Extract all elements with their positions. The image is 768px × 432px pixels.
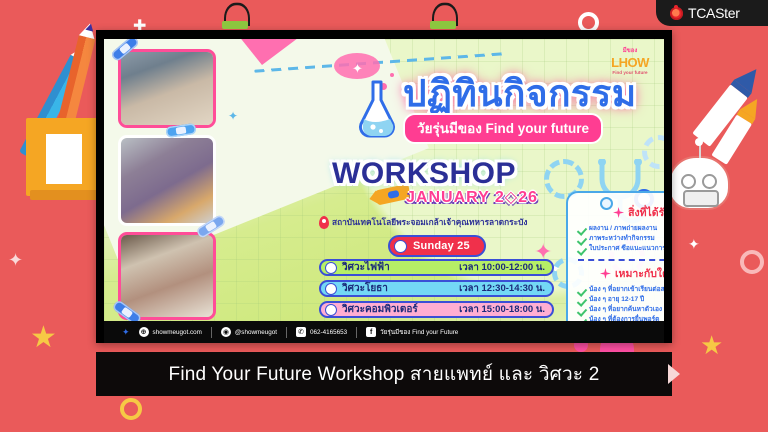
tcaster-logo-suffix: ter — [724, 5, 739, 21]
schedule-row-name: วิศวะโยธา — [342, 281, 388, 296]
ring-decor-bottom — [120, 398, 142, 420]
contact-facebook-text: วัยรุ่นมีของ Find your Future — [380, 327, 458, 337]
photo-workshop-2 — [118, 135, 216, 226]
info-card: สิ่งที่ได้รับ ผลงาน / ภาพถ่ายผลงาน ภาพระ… — [566, 191, 664, 339]
sparkle-icon — [600, 268, 611, 279]
info-card-bullet: ภาพระหว่างทำกิจกรรม — [578, 235, 664, 244]
day-badge-knob-icon — [394, 240, 407, 253]
info-card-bullet: ผลงาน / ภาพถ่ายผลงาน — [578, 225, 664, 234]
venue-line: สถาบันเทคโนโลยีพระจอมเกล้าเจ้าคุณทหารลาด… — [319, 215, 527, 229]
ring-decor-right — [740, 250, 764, 274]
poster-star-decor-4: ✦ — [228, 109, 238, 123]
check-icon — [578, 236, 586, 244]
schedule-row-knob-icon — [325, 283, 337, 295]
contact-sparkle-icon: ✦ — [122, 327, 130, 338]
info-card-bullet-text: น้อง ๆ ที่อยากค้นหาตัวเอง — [589, 306, 662, 315]
tcaster-mark-icon — [670, 7, 683, 20]
check-icon — [578, 226, 586, 234]
poster-subtitle: วัยรุ่นมีของ Find your future — [403, 113, 603, 144]
mi-khong-logo-line3: Find your future — [604, 70, 656, 75]
contact-phone[interactable]: ✆ 062-4165653 — [287, 327, 356, 337]
poster-title: ปฏิทินกิจกรรม — [403, 75, 637, 112]
sparkle-icon — [613, 207, 624, 218]
tcaster-logo: TCASter — [656, 0, 768, 26]
info-card-bullet-text: ใบประกาศ ซีอแนะแนวการทำ Portfolio — [589, 245, 664, 254]
card-punch-hole-left-icon — [600, 197, 613, 210]
poster-frame: ✦ ✦ ✦ ✦ ✦ ✦ ปฏิทินกิจกรรม วัยรุ่นมีของ F… — [96, 30, 672, 343]
info-card-bullet-text: น้อง ๆ ที่อยากเข้าเรียนต่อสายวิศวะ — [589, 286, 664, 295]
facebook-icon: f — [366, 327, 376, 337]
schedule-row-time: เวลา 10:00-12:00 น. — [459, 260, 545, 275]
check-icon — [578, 287, 586, 295]
poster-headline: ปฏิทินกิจกรรม วัยรุ่นมีของ Find your fut… — [403, 75, 637, 144]
schedule-row-name: วิศวะคอมพิวเตอร์ — [342, 302, 418, 317]
contact-phone-text: 062-4165653 — [310, 329, 347, 336]
check-icon — [578, 246, 586, 254]
check-icon — [578, 307, 586, 315]
robot-mascot-decor — [668, 156, 730, 210]
schedule-row-knob-icon — [325, 304, 337, 316]
binder-clip-right-icon — [430, 8, 456, 30]
mi-khong-logo: มีของ LHOW Find your future — [604, 45, 656, 75]
poster-star-decor-1: ✦ — [352, 61, 363, 77]
info-card-bullet-text: น้อง ๆ อายุ 12-17 ปี — [589, 296, 644, 305]
workshop-label: WORKSHOP — [332, 157, 516, 191]
tcaster-logo-text: TCAS — [688, 5, 724, 21]
schedule-row-knob-icon — [325, 262, 337, 274]
star-decor-right: ★ — [700, 330, 723, 361]
photo-workshop-3 — [118, 232, 216, 320]
poster-dot-decor-2 — [390, 73, 394, 77]
schedule-row: วิศวะไฟฟ้า เวลา 10:00-12:00 น. — [319, 259, 554, 276]
day-badge: Sunday 25 — [388, 235, 486, 257]
day-badge-text: Sunday 25 — [413, 240, 470, 252]
info-card-bullet: น้อง ๆ ที่อยากค้นหาตัวเอง — [578, 306, 664, 315]
info-card-bullet-text: ภาพระหว่างทำกิจกรรม — [589, 235, 655, 244]
contact-line-text: @showmeugot — [235, 329, 277, 336]
check-icon — [578, 297, 586, 305]
info-card-bullet: ใบประกาศ ซีอแนะแนวการทำ Portfolio — [578, 245, 664, 254]
info-card-section2-title: เหมาะกับใคร ? — [615, 265, 664, 282]
globe-icon: ⊕ — [139, 327, 149, 337]
photo-workshop-1 — [118, 49, 216, 128]
caption-next-arrow-icon[interactable] — [668, 364, 680, 384]
schedule-row-name: วิศวะไฟฟ้า — [342, 260, 390, 275]
schedule-row-time: เวลา 12:30-14:30 น. — [459, 281, 545, 296]
info-card-section1-title: สิ่งที่ได้รับ — [628, 204, 664, 221]
binder-clip-left-icon — [222, 8, 248, 30]
contact-website[interactable]: ⊕ showmeugot.com — [130, 327, 211, 337]
line-icon: ◉ — [221, 327, 231, 337]
star-decor-left: ★ — [30, 320, 57, 355]
schedule-row-time: เวลา 15:00-18:00 น. — [459, 302, 545, 317]
phone-icon: ✆ — [296, 327, 306, 337]
venue-text: สถาบันเทคโนโลยีพระจอมเกล้าเจ้าคุณทหารลาด… — [332, 215, 527, 229]
info-card-section2-header: เหมาะกับใคร ? — [576, 265, 664, 282]
mi-khong-logo-line2: LHOW — [604, 55, 656, 70]
caption-text: Find Your Future Workshop สายแพทย์ และ ว… — [169, 359, 600, 389]
info-card-section1-header: สิ่งที่ได้รับ — [576, 204, 664, 221]
location-pin-icon — [319, 216, 329, 229]
book-decor — [26, 118, 100, 196]
schedule-row: วิศวะคอมพิวเตอร์ เวลา 15:00-18:00 น. — [319, 301, 554, 318]
book-shadow-decor — [30, 190, 100, 200]
flask-icon — [354, 79, 400, 141]
schedule-row: วิศวะโยธา เวลา 12:30-14:30 น. — [319, 280, 554, 297]
caption-bar: Find Your Future Workshop สายแพทย์ และ ว… — [96, 352, 672, 396]
star-decor-left2: ✦ — [8, 250, 23, 271]
contact-line[interactable]: ◉ @showmeugot — [212, 327, 286, 337]
poster-artwork: ✦ ✦ ✦ ✦ ✦ ✦ ปฏิทินกิจกรรม วัยรุ่นมีของ F… — [104, 39, 664, 343]
contact-facebook[interactable]: f วัยรุ่นมีของ Find your Future — [357, 327, 467, 337]
info-card-bullet: น้อง ๆ ที่อยากเข้าเรียนต่อสายวิศวะ — [578, 286, 664, 295]
contact-website-text: showmeugot.com — [153, 329, 202, 336]
book-label-decor — [46, 134, 82, 184]
info-card-bullet: น้อง ๆ อายุ 12-17 ปี — [578, 296, 664, 305]
date-label: JANUARY 2◇26 — [406, 187, 538, 207]
info-card-bullet-text: ผลงาน / ภาพถ่ายผลงาน — [589, 225, 657, 234]
poster-contact-bar: ✦ ⊕ showmeugot.com ◉ @showmeugot ✆ 062-4… — [104, 321, 664, 343]
sparkle-decor-right: ✦ — [688, 236, 700, 253]
info-card-divider — [578, 259, 664, 261]
mi-khong-logo-line1: มีของ — [604, 45, 656, 55]
